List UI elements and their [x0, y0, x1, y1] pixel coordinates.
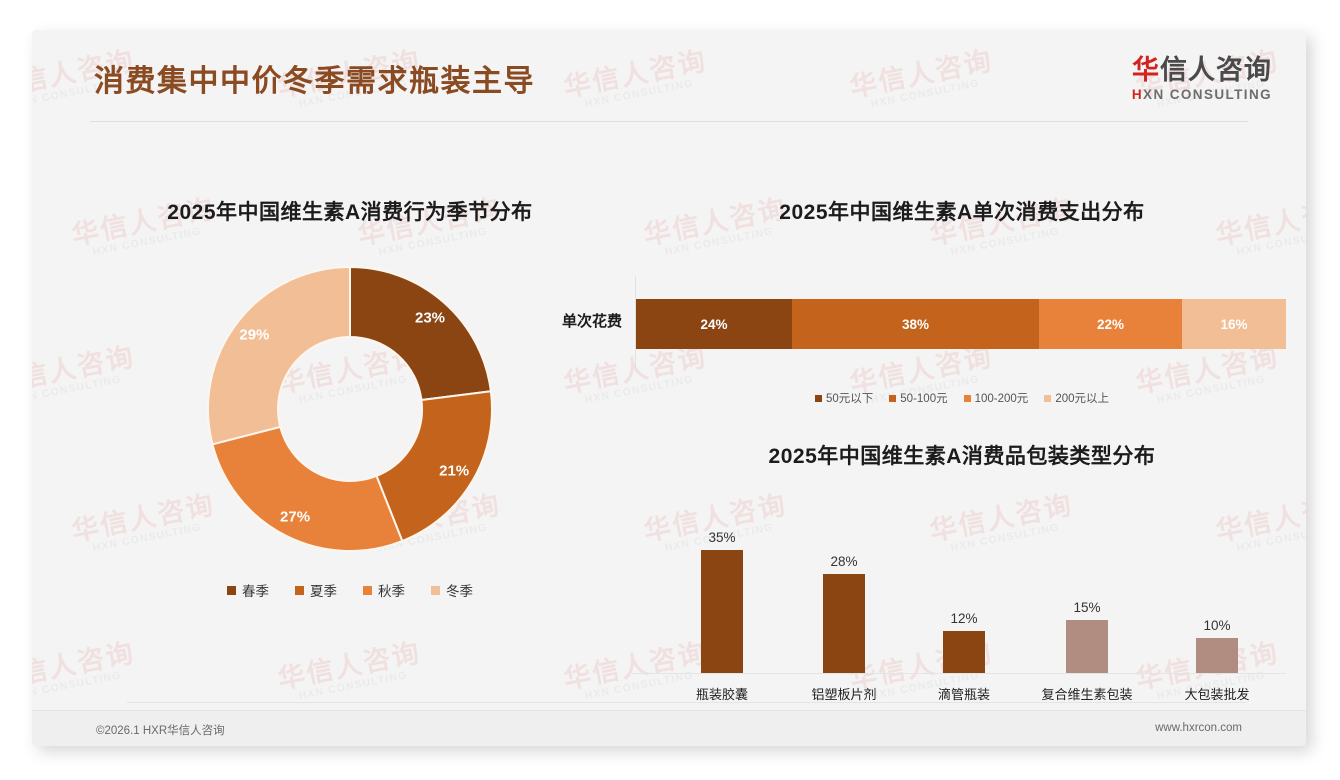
- header-divider: [90, 121, 1248, 122]
- donut-segment-label: 21%: [439, 462, 469, 479]
- logo-en-red: H: [1132, 87, 1143, 102]
- copyright-text: ©2026.1 HXR华信人咨询: [96, 722, 225, 738]
- spend-stacked-plot: 单次花费 24%38%22%16%: [632, 276, 1292, 372]
- legend-item[interactable]: 100-200元: [964, 390, 1029, 406]
- legend-swatch-icon: [815, 395, 822, 402]
- legend-swatch-icon: [227, 586, 236, 595]
- column-value-label: 35%: [708, 530, 735, 545]
- column-value-label: 15%: [1073, 600, 1100, 615]
- package-column-panel: 2025年中国维生素A消费品包装类型分布 35%28%12%15%10% 瓶装胶…: [632, 440, 1292, 710]
- donut-segment-label: 29%: [239, 326, 269, 343]
- logo-cn-rest: 信人咨询: [1160, 55, 1272, 85]
- spend-stacked-legend: 50元以下50-100元100-200元200元以上: [632, 390, 1292, 406]
- column-bar[interactable]: [823, 574, 865, 673]
- column-category-label: 瓶装胶囊: [696, 684, 748, 703]
- note-divider: [127, 702, 1247, 703]
- legend-swatch-icon: [964, 395, 971, 402]
- donut-segment[interactable]: [212, 427, 402, 551]
- column-group: 15%: [1066, 600, 1108, 673]
- donut-segment-label: 23%: [415, 310, 445, 327]
- legend-item[interactable]: 50元以下: [815, 390, 873, 406]
- column-category-label: 复合维生素包装: [1041, 684, 1132, 703]
- column-value-label: 10%: [1203, 618, 1230, 633]
- stacked-category-label: 单次花费: [522, 310, 622, 331]
- legend-label: 冬季: [446, 580, 473, 600]
- legend-swatch-icon: [431, 586, 440, 595]
- stacked-bar-segment[interactable]: 38%: [792, 299, 1039, 349]
- donut-segment[interactable]: [208, 267, 350, 444]
- column-value-label: 12%: [950, 611, 977, 626]
- season-donut-panel: 2025年中国维生素A消费行为季节分布 23%21%27%29% 春季夏季秋季冬…: [90, 170, 610, 670]
- slide-header: 消费集中中价冬季需求瓶装主导 华信人咨询 HXN CONSULTING: [32, 30, 1306, 122]
- stacked-bar-segment[interactable]: 24%: [636, 299, 792, 349]
- legend-label: 秋季: [378, 580, 405, 600]
- legend-label: 200元以上: [1055, 390, 1109, 406]
- legend-label: 50元以下: [826, 390, 873, 406]
- legend-swatch-icon: [889, 395, 896, 402]
- package-column-title: 2025年中国维生素A消费品包装类型分布: [632, 440, 1292, 470]
- logo-cn-red: 华: [1132, 55, 1160, 85]
- legend-item[interactable]: 冬季: [431, 580, 473, 600]
- legend-item[interactable]: 秋季: [363, 580, 405, 600]
- stacked-bar-segment[interactable]: 22%: [1039, 299, 1182, 349]
- column-bar[interactable]: [943, 631, 985, 673]
- season-donut-title: 2025年中国维生素A消费行为季节分布: [90, 196, 610, 226]
- donut-segment-label: 27%: [280, 508, 310, 525]
- stacked-bar-row: 24%38%22%16%: [636, 299, 1286, 349]
- legend-item[interactable]: 夏季: [295, 580, 337, 600]
- column-bar[interactable]: [1066, 620, 1108, 673]
- spend-stacked-title: 2025年中国维生素A单次消费支出分布: [632, 196, 1292, 226]
- package-column-plot: 35%28%12%15%10%: [632, 514, 1292, 674]
- column-bar[interactable]: [701, 550, 743, 673]
- logo-english: HXN CONSULTING: [1132, 87, 1272, 102]
- legend-swatch-icon: [1044, 395, 1051, 402]
- column-group: 35%: [701, 530, 743, 673]
- column-group: 10%: [1196, 618, 1238, 673]
- season-donut-chart: 23%21%27%29%: [205, 264, 495, 554]
- season-donut-legend: 春季夏季秋季冬季: [90, 580, 610, 600]
- legend-label: 50-100元: [900, 390, 947, 406]
- logo-chinese: 华信人咨询: [1132, 56, 1272, 86]
- column-group: 28%: [823, 554, 865, 673]
- page-title: 消费集中中价冬季需求瓶装主导: [94, 56, 535, 100]
- column-bar[interactable]: [1196, 638, 1238, 673]
- legend-swatch-icon: [295, 586, 304, 595]
- column-category-label: 滴管瓶装: [938, 684, 990, 703]
- legend-label: 100-200元: [975, 390, 1029, 406]
- footer-bar: ©2026.1 HXR华信人咨询 www.hxrcon.com: [32, 710, 1306, 746]
- legend-label: 夏季: [310, 580, 337, 600]
- spend-stacked-panel: 2025年中国维生素A单次消费支出分布 单次花费 24%38%22%16% 50…: [632, 170, 1292, 420]
- legend-item[interactable]: 春季: [227, 580, 269, 600]
- legend-label: 春季: [242, 580, 269, 600]
- company-logo: 华信人咨询 HXN CONSULTING: [1132, 56, 1272, 102]
- column-group: 12%: [943, 611, 985, 673]
- column-value-label: 28%: [830, 554, 857, 569]
- stacked-bar-segment[interactable]: 16%: [1182, 299, 1286, 349]
- website-link[interactable]: www.hxrcon.com: [1155, 722, 1242, 734]
- column-category-label: 大包装批发: [1184, 684, 1249, 703]
- legend-swatch-icon: [363, 586, 372, 595]
- slide-card: 华信人咨询HXN CONSULTING华信人咨询HXN CONSULTING华信…: [32, 30, 1306, 746]
- donut-segment[interactable]: [350, 267, 491, 400]
- logo-en-rest: XN CONSULTING: [1143, 87, 1272, 102]
- legend-item[interactable]: 200元以上: [1044, 390, 1109, 406]
- legend-item[interactable]: 50-100元: [889, 390, 947, 406]
- column-category-label: 铝塑板片剂: [811, 684, 876, 703]
- column-baseline: [632, 673, 1286, 674]
- donut-svg: [205, 264, 495, 554]
